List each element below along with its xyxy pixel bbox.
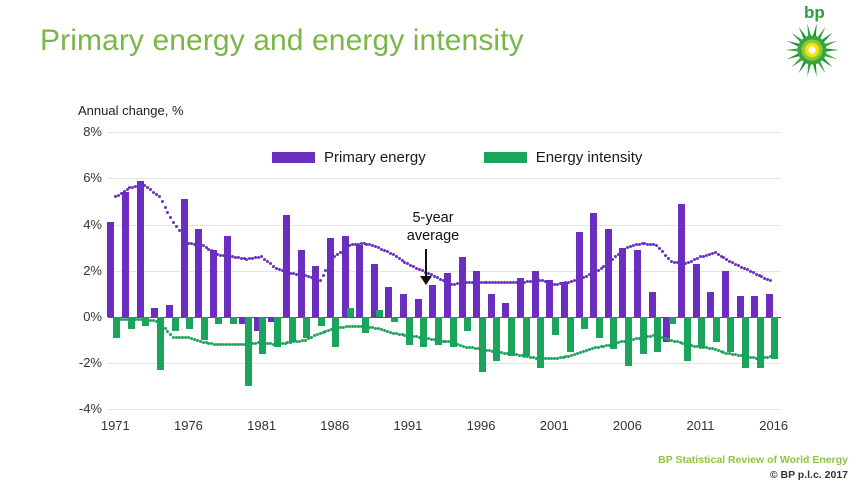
bar-primary-energy-1974 (151, 308, 158, 317)
bar-energy-intensity-1999 (523, 317, 530, 356)
bar-primary-energy-2011 (693, 264, 700, 317)
bar-energy-intensity-1985 (318, 317, 325, 326)
bar-energy-intensity-1998 (508, 317, 515, 356)
annotation-line-1: 5-year (381, 209, 485, 227)
trend-dot-primary-energy (172, 221, 175, 224)
bar-energy-intensity-1977 (201, 317, 208, 340)
bar-primary-energy-1979 (224, 236, 231, 317)
bar-energy-intensity-1991 (406, 317, 413, 345)
bar-primary-energy-2001 (546, 280, 553, 317)
bar-primary-energy-2003 (576, 232, 583, 317)
gridline (108, 409, 781, 410)
bar-energy-intensity-2009 (669, 317, 676, 324)
bar-primary-energy-2008 (649, 292, 656, 317)
x-axis-tick-label: 2016 (759, 418, 788, 433)
bar-primary-energy-1993 (429, 285, 436, 317)
bar-primary-energy-1985 (312, 266, 319, 317)
bar-primary-energy-1978 (210, 250, 217, 317)
trend-dot-primary-energy (123, 190, 126, 193)
bar-energy-intensity-1976 (186, 317, 193, 329)
bar-energy-intensity-1979 (230, 317, 237, 324)
trend-dot-primary-energy (623, 249, 626, 252)
slide-root: Primary energy and energy intensity bp A… (0, 0, 864, 486)
bar-primary-energy-2016 (766, 294, 773, 317)
bar-primary-energy-2006 (619, 248, 626, 317)
bar-energy-intensity-1995 (464, 317, 471, 331)
y-axis-tick-label: 8% (58, 124, 102, 139)
y-axis-tick-label: 6% (58, 170, 102, 185)
trend-dot-primary-energy (611, 258, 614, 261)
bar-primary-energy-2014 (737, 296, 744, 317)
x-axis-tick-label: 1996 (467, 418, 496, 433)
bar-energy-intensity-2000 (537, 317, 544, 368)
bar-primary-energy-2007 (634, 250, 641, 317)
x-axis-tick-label: 1991 (393, 418, 422, 433)
trend-dot-primary-energy (769, 279, 772, 282)
bar-primary-energy-1976 (181, 199, 188, 317)
bar-energy-intensity-2012 (713, 317, 720, 342)
bar-energy-intensity-1983 (289, 317, 296, 342)
x-axis-tick-label: 2001 (540, 418, 569, 433)
bar-primary-energy-1988 (356, 245, 363, 317)
trend-dot-primary-energy (667, 257, 670, 260)
zero-axis-line (108, 317, 781, 318)
trend-dot-primary-energy (661, 250, 664, 253)
bar-energy-intensity-2015 (757, 317, 764, 368)
bar-energy-intensity-2004 (596, 317, 603, 338)
trend-dot-primary-energy (614, 255, 617, 258)
bar-primary-energy-1996 (473, 271, 480, 317)
y-axis-tick-label: -2% (58, 355, 102, 370)
bar-primary-energy-2012 (707, 292, 714, 317)
bar-energy-intensity-1975 (172, 317, 179, 331)
x-axis-tick-label: 1971 (101, 418, 130, 433)
x-axis-tick-label: 2011 (687, 418, 715, 433)
bar-energy-intensity-1986 (332, 317, 339, 347)
bar-primary-energy-1986 (327, 238, 334, 317)
gridline (108, 363, 781, 364)
bar-primary-energy-1992 (415, 299, 422, 317)
gridline (108, 132, 781, 133)
bar-energy-intensity-2016 (771, 317, 778, 359)
bar-energy-intensity-2011 (698, 317, 705, 347)
bar-energy-intensity-2003 (581, 317, 588, 329)
trend-dot-primary-energy (319, 279, 322, 282)
bar-primary-energy-2015 (751, 296, 758, 317)
x-axis-tick-label: 1986 (320, 418, 349, 433)
bar-energy-intensity-1996 (479, 317, 486, 372)
bar-primary-energy-1997 (488, 294, 495, 317)
five-year-average-annotation: 5-year average (381, 209, 485, 245)
bar-energy-intensity-2013 (727, 317, 734, 352)
trend-dot-primary-energy (161, 200, 164, 203)
y-axis-tick-label: 0% (58, 309, 102, 324)
footer-source: BP Statistical Review of World Energy (658, 454, 848, 466)
trend-dot-primary-energy (158, 195, 161, 198)
bar-primary-energy-2010 (678, 204, 685, 317)
bar-energy-intensity-1987 (347, 308, 354, 317)
bar-energy-intensity-1992 (420, 317, 427, 347)
bar-energy-intensity-2002 (567, 317, 574, 352)
bar-energy-intensity-1990 (391, 317, 398, 322)
bar-primary-energy-1998 (502, 303, 509, 317)
bar-primary-energy-1995 (459, 257, 466, 317)
bar-primary-energy-2005 (605, 229, 612, 317)
trend-dot-primary-energy (169, 216, 172, 219)
bar-primary-energy-1972 (122, 192, 129, 317)
bar-energy-intensity-2001 (552, 317, 559, 335)
x-axis-tick-label: 2006 (613, 418, 642, 433)
bar-energy-intensity-1997 (493, 317, 500, 361)
bar-energy-intensity-1978 (215, 317, 222, 324)
bar-primary-energy-1984 (298, 250, 305, 317)
trend-dot-primary-energy (175, 225, 178, 228)
bar-energy-intensity-1984 (303, 317, 310, 338)
bar-primary-energy-1989 (371, 264, 378, 317)
trend-dot-primary-energy (166, 211, 169, 214)
bar-energy-intensity-2010 (684, 317, 691, 361)
gridline (108, 178, 781, 179)
y-axis-tick-label: 2% (58, 263, 102, 278)
annotation-line-2: average (381, 227, 485, 245)
bar-primary-energy-2002 (561, 282, 568, 317)
trend-dot-energy-intensity (158, 320, 161, 323)
trend-dot-primary-energy (342, 249, 345, 252)
y-axis-tick-label: 4% (58, 217, 102, 232)
trend-dot-primary-energy (597, 269, 600, 272)
bar-primary-energy-1971 (107, 222, 114, 317)
bar-primary-energy-1975 (166, 305, 173, 317)
bar-primary-energy-1983 (283, 215, 290, 317)
annotation-arrow-shaft (425, 249, 427, 278)
bar-primary-energy-1990 (385, 287, 392, 317)
y-axis-labels: 8%6%4%2%0%-2%-4% (52, 0, 102, 486)
bar-energy-intensity-1981 (259, 317, 266, 354)
bar-energy-intensity-2014 (742, 317, 749, 368)
bar-primary-energy-2013 (722, 271, 729, 317)
trend-dot-primary-energy (164, 206, 167, 209)
bar-primary-energy-2000 (532, 271, 539, 317)
bar-primary-energy-1973 (137, 181, 144, 317)
bar-primary-energy-1991 (400, 294, 407, 317)
trend-dot-primary-energy (322, 274, 325, 277)
trend-dot-primary-energy (664, 254, 667, 257)
trend-dot-primary-energy (333, 255, 336, 258)
bar-energy-intensity-1989 (376, 310, 383, 317)
y-axis-tick-label: -4% (58, 401, 102, 416)
x-axis-tick-label: 1981 (247, 418, 276, 433)
x-axis-tick-label: 1976 (174, 418, 203, 433)
bar-primary-energy-2004 (590, 213, 597, 317)
annotation-arrow-head (420, 276, 432, 285)
footer-copyright: © BP p.l.c. 2017 (770, 469, 848, 481)
bar-energy-intensity-1980 (245, 317, 252, 386)
